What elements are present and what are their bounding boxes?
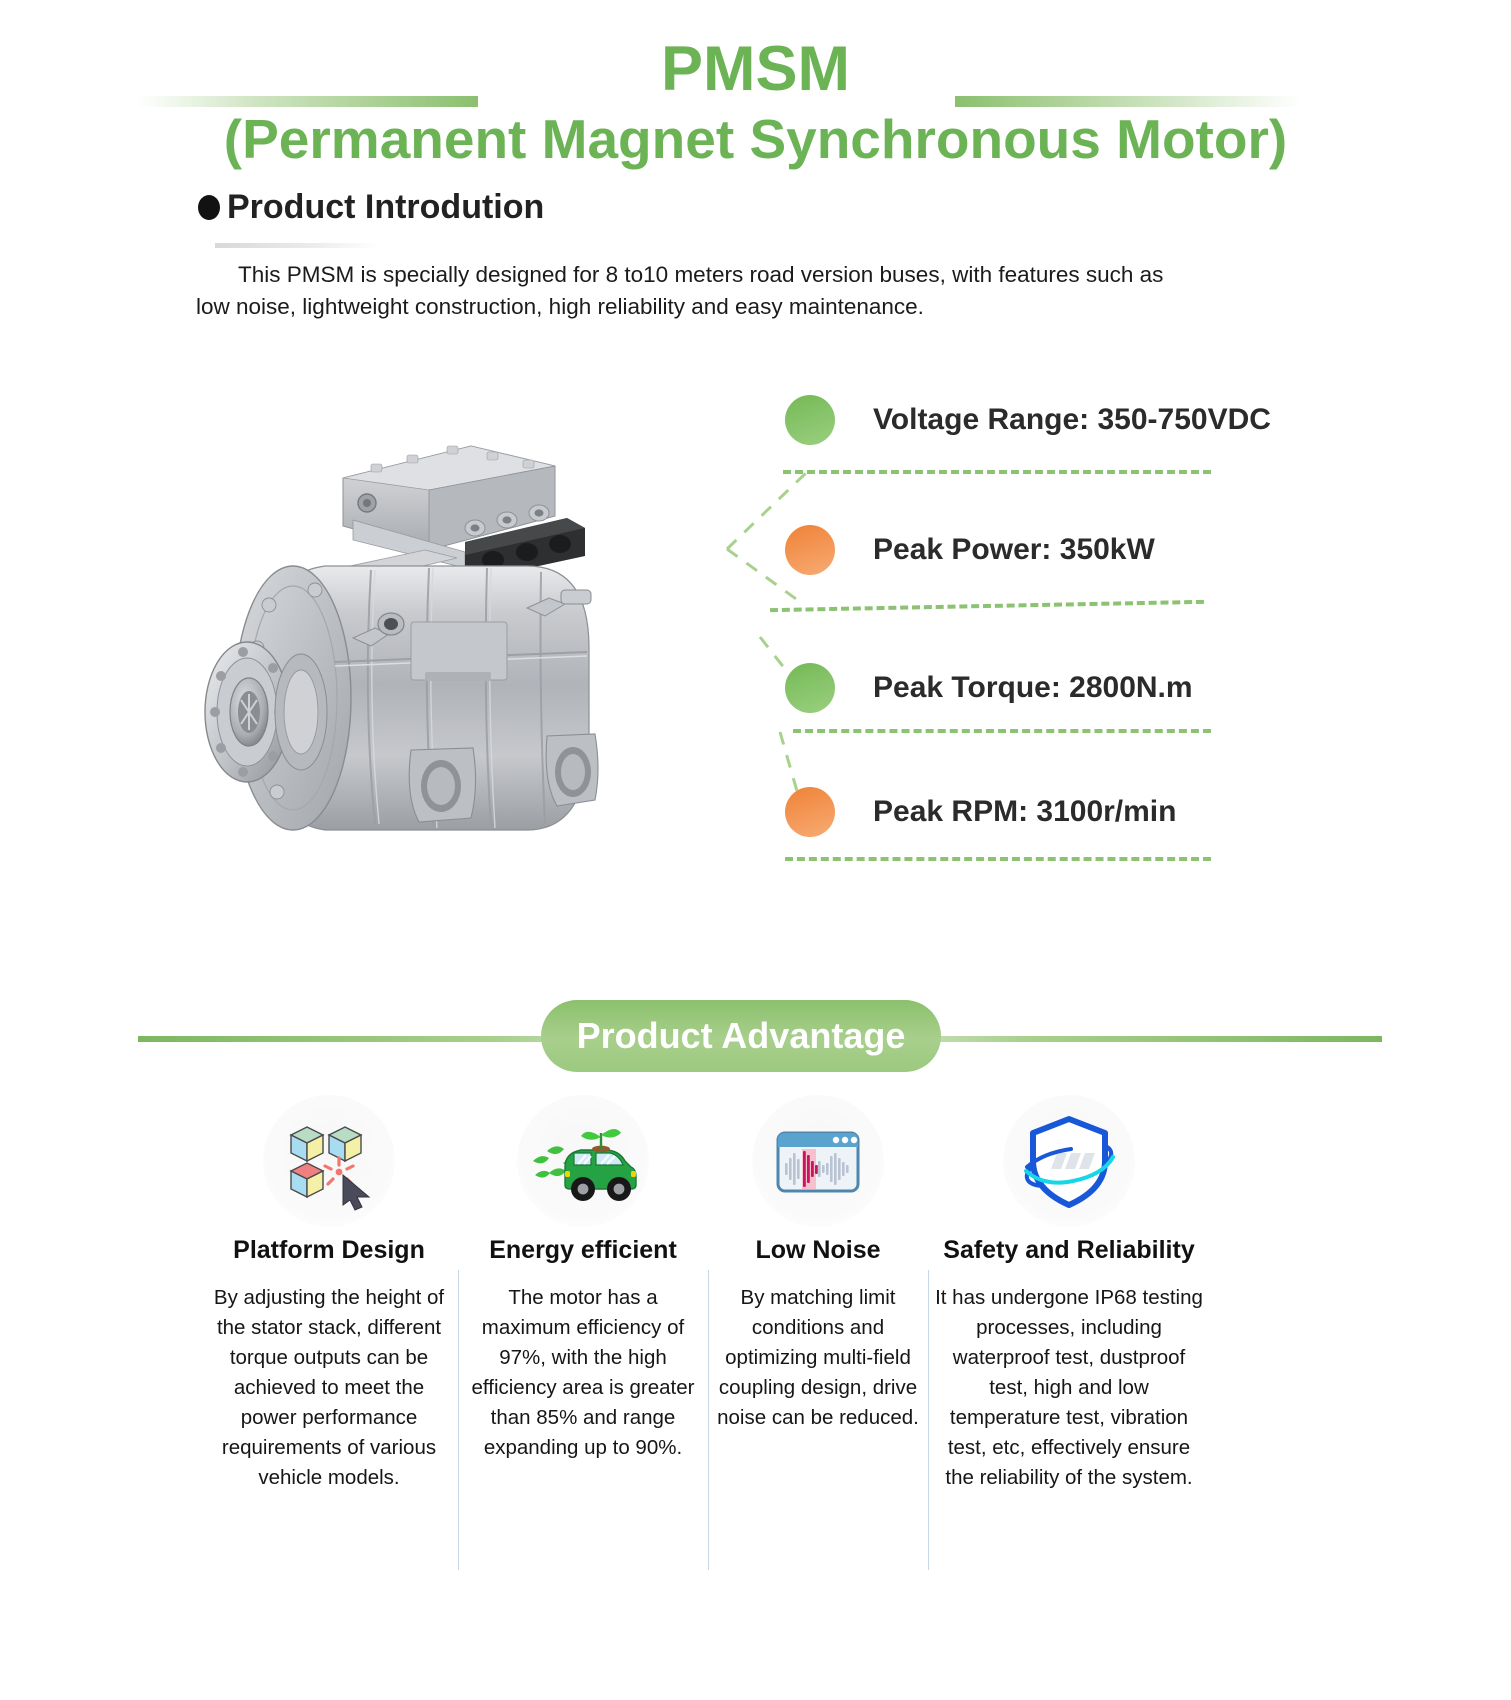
spec-label-rpm: Peak RPM: 3100r/min — [873, 797, 1176, 827]
spec-callout-list: Voltage Range: 350-750VDC Peak Power: 35… — [775, 392, 1335, 892]
spec-row-voltage-range: Voltage Range: 350-750VDC — [785, 392, 1271, 448]
advantage-item-platform-design: Platform Design By adjusting the height … — [200, 1095, 458, 1493]
product-advantage-banner: Product Advantage — [0, 1000, 1511, 1078]
cubes-cursor-icon — [263, 1095, 395, 1227]
spec-row-peak-rpm: Peak RPM: 3100r/min — [785, 784, 1176, 840]
intro-paragraph: This PMSM is specially designed for 8 to… — [196, 259, 1202, 323]
spec-dash-torque — [793, 729, 1211, 733]
advantage-grid: Platform Design By adjusting the height … — [200, 1095, 1210, 1493]
spec-dash-power — [770, 600, 1204, 612]
section-heading-label: Product Introdution — [227, 190, 544, 224]
advantage-title: Safety and Reliability — [943, 1237, 1194, 1265]
column-divider — [928, 1270, 929, 1570]
column-divider — [458, 1270, 459, 1570]
shield-orbit-icon — [1003, 1095, 1135, 1227]
advantage-body: The motor has a maximum efficiency of 97… — [464, 1283, 702, 1464]
advantage-title: Low Noise — [755, 1237, 880, 1265]
advantage-title: Platform Design — [233, 1237, 425, 1265]
pmsm-motor-photo — [175, 400, 675, 890]
spec-row-peak-torque: Peak Torque: 2800N.m — [785, 660, 1193, 716]
eco-car-icon — [517, 1095, 649, 1227]
page-header: PMSM (Permanent Magnet Synchronous Motor… — [0, 0, 1511, 185]
spec-bullet-icon-torque — [785, 663, 835, 713]
page-subtitle: (Permanent Magnet Synchronous Motor) — [0, 112, 1511, 167]
spec-bullet-icon-rpm — [785, 787, 835, 837]
advantage-item-energy-efficient: Energy efficient The motor has a maximum… — [458, 1095, 708, 1463]
spec-row-peak-power: Peak Power: 350kW — [785, 522, 1155, 578]
column-divider — [708, 1270, 709, 1570]
advantage-pill-label: Product Advantage — [577, 1018, 906, 1054]
advantage-body: By matching limit conditions and optimiz… — [714, 1283, 922, 1434]
bullet-dot-icon — [198, 195, 220, 220]
product-introduction-heading: Product Introdution — [198, 190, 544, 224]
waveform-window-icon — [752, 1095, 884, 1227]
spec-bullet-icon-voltage — [785, 395, 835, 445]
advantage-body: By adjusting the height of the stator st… — [206, 1283, 452, 1494]
spec-dash-rpm — [785, 857, 1211, 861]
spec-label-voltage: Voltage Range: 350-750VDC — [873, 405, 1271, 435]
spec-dash-voltage — [783, 470, 1211, 474]
advantage-rule-right — [870, 1036, 1382, 1042]
spec-bullet-icon-power — [785, 525, 835, 575]
advantage-pill: Product Advantage — [541, 1000, 941, 1072]
advantage-title: Energy efficient — [489, 1237, 677, 1265]
advantage-body: It has undergone IP68 testing processes,… — [934, 1283, 1204, 1494]
advantage-item-safety-reliability: Safety and Reliability It has undergone … — [928, 1095, 1210, 1493]
spec-label-power: Peak Power: 350kW — [873, 535, 1155, 565]
page-title: PMSM — [0, 38, 1511, 101]
advantage-item-low-noise: Low Noise By matching limit conditions a… — [708, 1095, 928, 1433]
section-heading-underline — [215, 243, 380, 248]
spec-label-torque: Peak Torque: 2800N.m — [873, 673, 1193, 703]
